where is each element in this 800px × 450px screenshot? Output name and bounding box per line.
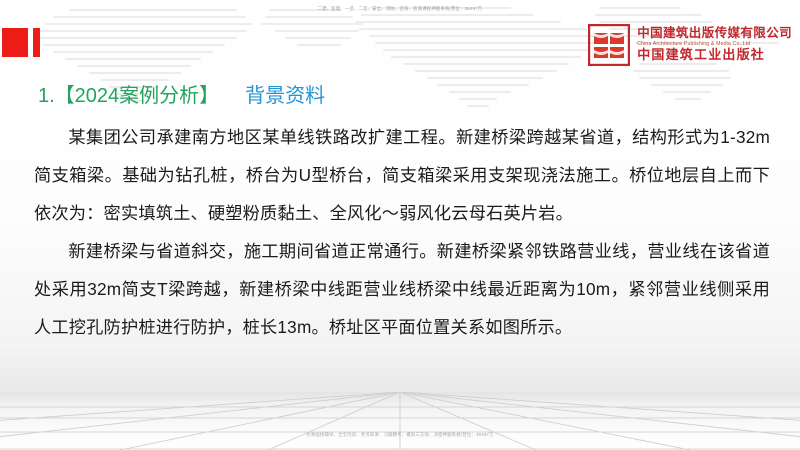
publisher-company-en: China Architecture Publishing & Media Co… xyxy=(637,42,792,48)
publisher-logo: 中国建筑出版传媒有限公司 China Architecture Publishi… xyxy=(588,24,792,66)
slide-body: 某集团公司承建南方地区某单线铁路改扩建工程。新建桥梁跨越某省道，结构形式为1-3… xyxy=(34,118,770,346)
publisher-imprint-cn: 中国建筑工业出版社 xyxy=(637,49,792,63)
slide-canvas: 二建、监理、一造、二造、安全、消防、咨询、检测课程押题系统/营位：38497万 … xyxy=(0,0,800,450)
slide-heading: 1.【2024案例分析】背景资料 xyxy=(38,79,325,108)
body-paragraph-2: 新建桥梁与省道斜交，施工期间省道正常通行。新建桥梁紧邻铁路营业线，营业线在该省道… xyxy=(34,232,770,346)
perspective-floor xyxy=(0,392,800,450)
red-accent-block xyxy=(2,28,28,57)
red-accent-bar xyxy=(33,28,40,57)
publisher-logo-icon xyxy=(588,24,630,66)
bottom-watermark-text: 名师面授辅导、全全内训、考点串讲、习题精考、模拟三方场、决密押题系统/营位：38… xyxy=(0,432,800,438)
heading-main-label: 1.【2024案例分析】 xyxy=(38,85,219,107)
publisher-logo-text: 中国建筑出版传媒有限公司 China Architecture Publishi… xyxy=(637,27,792,63)
publisher-company-cn: 中国建筑出版传媒有限公司 xyxy=(637,27,792,41)
top-watermark-text: 二建、监理、一造、二造、安全、消防、咨询、检测课程押题系统/营位：38497万 xyxy=(0,6,800,12)
heading-sub-label: 背景资料 xyxy=(245,85,325,107)
body-paragraph-1: 某集团公司承建南方地区某单线铁路改扩建工程。新建桥梁跨越某省道，结构形式为1-3… xyxy=(34,118,770,232)
